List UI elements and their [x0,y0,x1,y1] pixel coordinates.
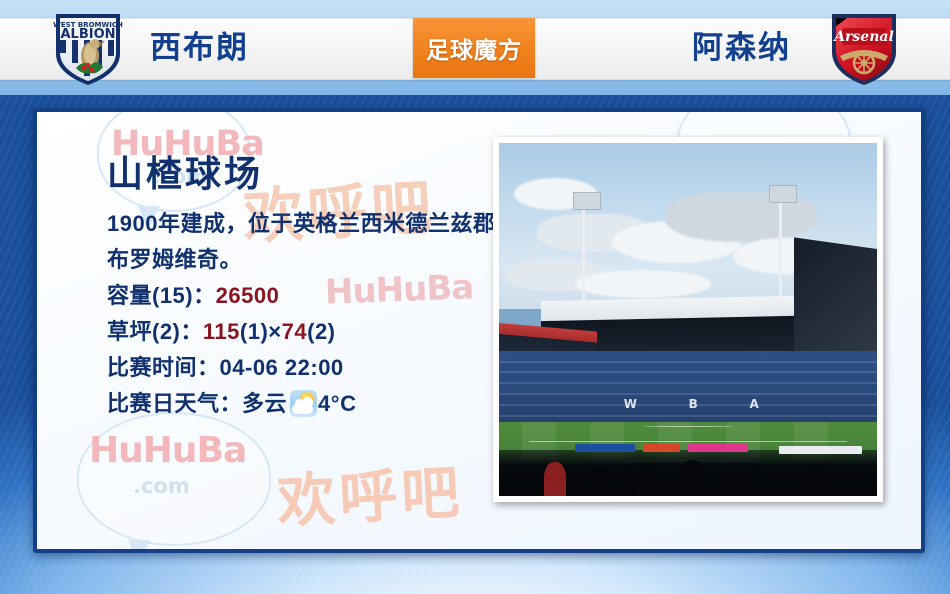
floodlight-head [573,192,601,210]
watermark-domain-3: .com [133,474,190,498]
pitch-length-value: 115 [203,319,240,344]
weather-condition: 多云 [242,391,287,416]
arsenal-crest: Arsenal [822,6,906,90]
watermark-latin-3: HuHuBa [89,430,246,471]
spectator [544,462,566,496]
floodlight-mast [582,199,585,308]
pitch-line: 草坪(2)：115(1)×74(2) [107,314,507,350]
brand-logo-badge[interactable]: 足球魔方 [413,18,535,78]
seat-letter: B [689,397,699,411]
seat-letter: W [624,397,638,411]
spectator [680,460,704,496]
west-bromwich-albion-crest: WEST BROMWICH ALBION [46,6,130,90]
seating-bowl [499,351,877,429]
away-team-name: 阿森纳 [692,26,791,70]
stadium-info-text: 山楂球场 1900年建成，位于英格兰西米德兰兹郡西布罗姆维奇。 容量(15)：2… [107,150,507,422]
match-time-value: 04-06 22:00 [220,355,344,380]
watermark-bubble-3 [77,412,271,546]
match-time-label: 比赛时间： [107,355,220,380]
advert-board [779,446,862,454]
sun-behind-cloud-icon [290,390,317,417]
stadium-info-card: HuHuBa .com .com 欢呼吧 HuHuBa HuHuBa .com … [33,108,925,553]
seat-letter: A [750,397,760,411]
brand-logo-text: 足球魔方 [426,31,522,65]
match-header: WEST BROMWICH ALBION 西布朗 足球魔方 阿森纳 [0,0,950,95]
foreground-crowd [499,450,877,496]
spectator [635,466,657,496]
watermark-cn-2: 欢呼吧 [275,445,465,539]
stadium-title: 山楂球场 [107,150,507,198]
spectator [809,466,831,496]
svg-text:Arsenal: Arsenal [832,29,894,45]
pitch-width-note: (2) [307,319,335,344]
capacity-line: 容量(15)：26500 [107,278,507,314]
weather-temperature: 4°C [318,391,356,416]
spectator [726,470,746,496]
spectator [590,468,610,496]
advert-board [643,444,681,452]
advert-board [688,444,748,452]
seat-letters: W B A [624,392,760,417]
floodlight-head [769,185,797,203]
svg-text:ALBION: ALBION [60,27,115,42]
pitch-length-note: (1) [240,319,268,344]
cloud-shape [575,270,711,298]
pitch-label: 草坪(2)： [107,319,203,344]
stadium-photo-frame: W B A [493,137,883,502]
advert-board [575,444,635,452]
pitch-multiply-sign: × [268,319,281,344]
stadium-photo: W B A [499,143,877,496]
match-time-line: 比赛时间：04-06 22:00 [107,350,507,386]
capacity-value: 26500 [216,283,280,308]
pitch-width-value: 74 [282,319,307,344]
stadium-description: 1900年建成，位于英格兰西米德兰兹郡西布罗姆维奇。 [107,206,522,278]
capacity-label: 容量(15)： [107,283,216,308]
floodlight-mast [779,192,782,305]
weather-label: 比赛日天气： [107,391,242,416]
home-team-name: 西布朗 [150,26,249,70]
page-root: WEST BROMWICH ALBION 西布朗 足球魔方 阿森纳 [0,0,950,594]
weather-line: 比赛日天气：多云4°C [107,386,507,422]
